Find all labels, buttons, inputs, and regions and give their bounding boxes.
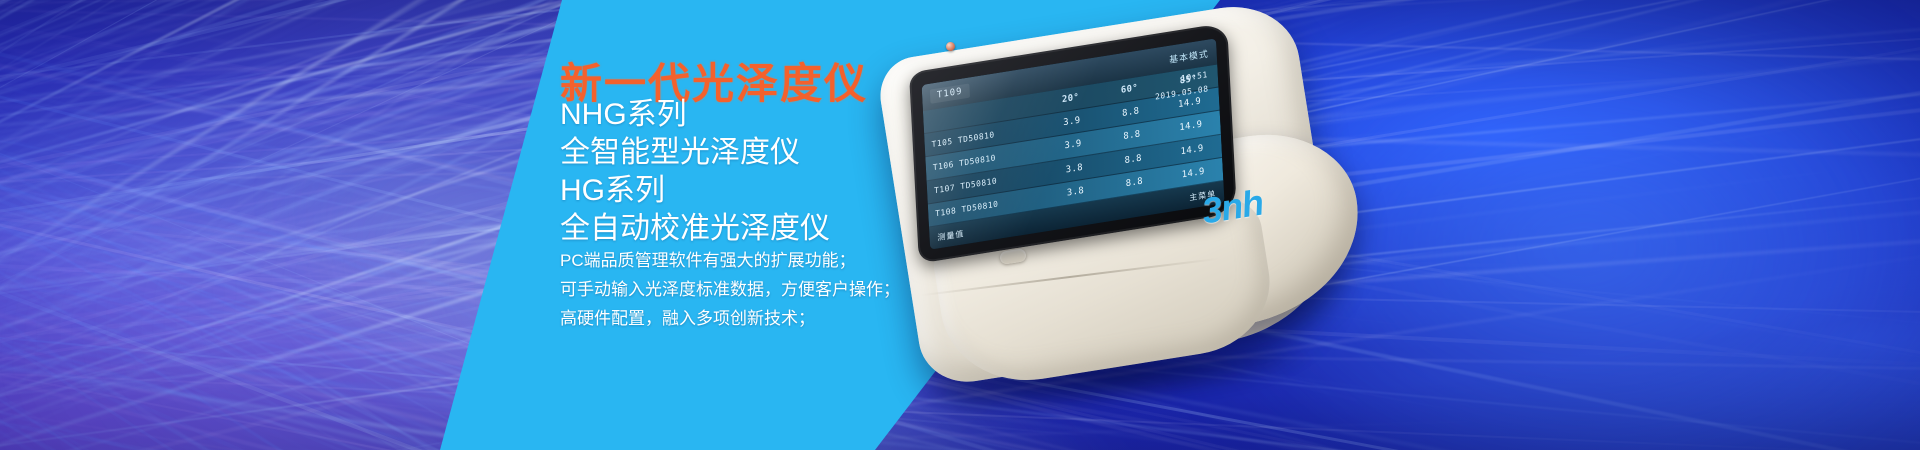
lcd-mode-label: 基本模式 bbox=[1169, 46, 1209, 65]
feature-line-2: 可手动输入光泽度标准数据，方便客户操作； bbox=[560, 281, 900, 298]
feature-line-1: PC端品质管理软件有强大的扩展功能； bbox=[560, 252, 856, 269]
device-lcd-screen[interactable]: T109 基本模式 10:51 2019.05.08 20° 60° 85° T… bbox=[922, 38, 1225, 249]
subheading-hg-description: 全自动校准光泽度仪 bbox=[560, 214, 830, 244]
lcd-value-60: 8.8 bbox=[1104, 150, 1163, 169]
lcd-value-85: 14.9 bbox=[1161, 117, 1220, 136]
subheading-nhg-description: 全智能型光泽度仪 bbox=[560, 138, 800, 168]
subheading-nhg-series: NHG系列 bbox=[560, 100, 687, 130]
lcd-value-20: 3.8 bbox=[1046, 182, 1105, 201]
lcd-footer-left-button[interactable]: 测量值 bbox=[937, 228, 964, 243]
lcd-value-60: 8.8 bbox=[1102, 126, 1161, 145]
lcd-value-20: 3.9 bbox=[1043, 136, 1102, 155]
lcd-col-header-60: 60° bbox=[1100, 80, 1159, 99]
lcd-value-85: 14.9 bbox=[1164, 164, 1223, 183]
lcd-sample-tag: T109 bbox=[930, 84, 970, 104]
lcd-value-20: 3.9 bbox=[1042, 113, 1101, 132]
lcd-value-20: 3.8 bbox=[1045, 159, 1104, 178]
product-banner: 新一代光泽度仪 NHG系列 全智能型光泽度仪 HG系列 全自动校准光泽度仪 PC… bbox=[0, 0, 1920, 450]
subheading-hg-series: HG系列 bbox=[560, 176, 665, 206]
lcd-value-60: 8.8 bbox=[1105, 173, 1164, 192]
lcd-col-header-20: 20° bbox=[1041, 89, 1100, 108]
feature-line-3: 高硬件配置，融入多项创新技术； bbox=[560, 310, 815, 327]
lcd-value-60: 8.8 bbox=[1101, 103, 1160, 122]
lcd-value-85: 14.9 bbox=[1162, 140, 1221, 159]
gloss-meter-device: T109 基本模式 10:51 2019.05.08 20° 60° 85° T… bbox=[880, 18, 1380, 418]
